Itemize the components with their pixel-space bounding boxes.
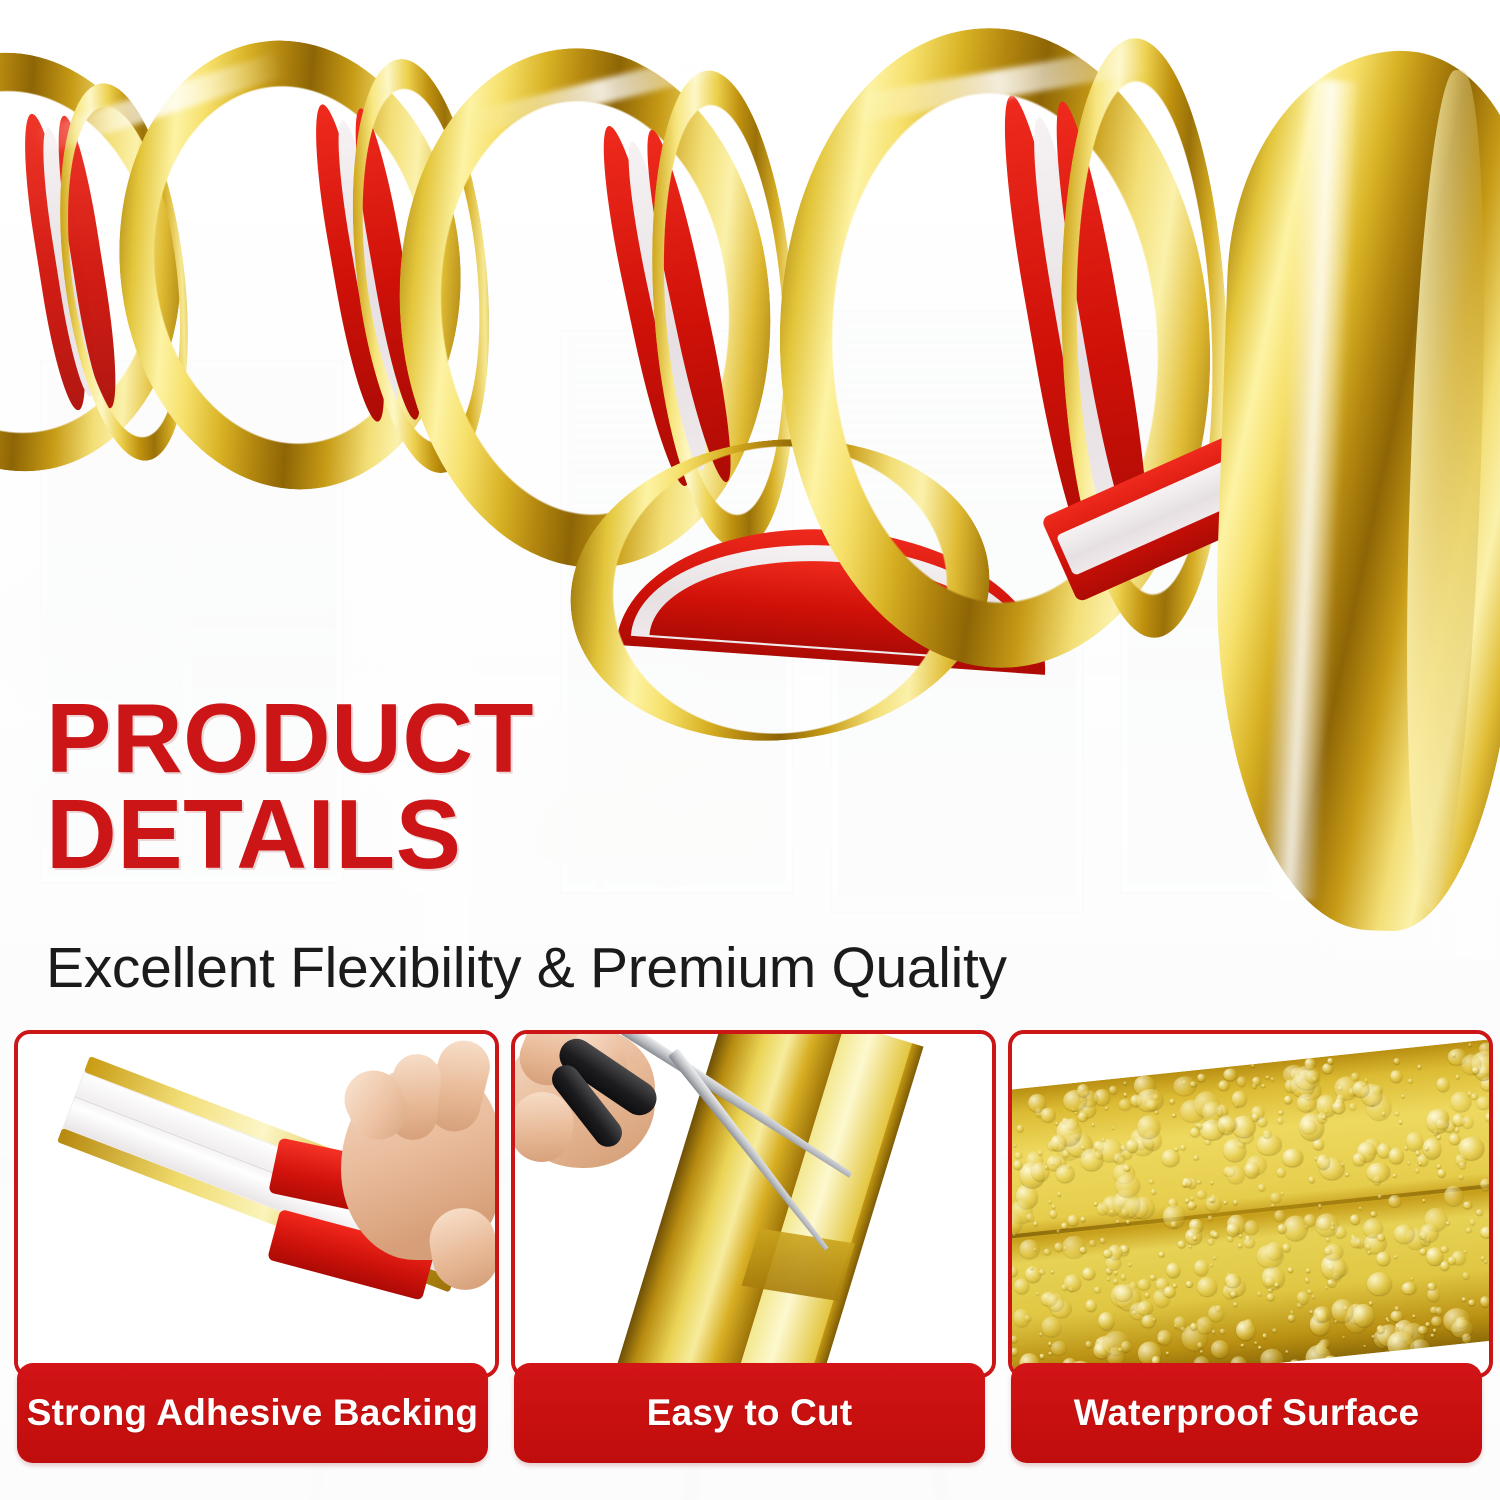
water-droplet <box>1210 1339 1229 1358</box>
water-droplet <box>1484 1112 1489 1123</box>
water-droplet <box>1272 1328 1277 1332</box>
water-droplet <box>1166 1351 1169 1354</box>
water-droplet <box>1255 1243 1284 1269</box>
water-droplet <box>1377 1194 1381 1198</box>
feature-caption-label: Waterproof Surface <box>1074 1392 1420 1434</box>
water-droplet <box>1377 1233 1386 1241</box>
water-droplet <box>1213 1232 1220 1239</box>
page-title-line-2: DETAILS <box>46 786 766 882</box>
water-droplet <box>1197 1277 1219 1297</box>
tape-tail <box>1160 40 1500 940</box>
water-droplet <box>1229 1291 1237 1298</box>
water-droplet <box>1255 1341 1258 1344</box>
water-droplet <box>1438 1169 1446 1178</box>
feature-caption-easy-to-cut: Easy to Cut <box>514 1363 985 1463</box>
water-droplet <box>1268 1288 1273 1292</box>
water-droplet <box>1252 1113 1259 1121</box>
water-droplet <box>1137 1278 1151 1290</box>
water-droplet <box>1376 1251 1391 1266</box>
water-droplet <box>1468 1044 1472 1047</box>
water-droplet <box>1085 1299 1097 1312</box>
water-droplet <box>1136 1088 1164 1113</box>
water-droplet <box>1288 1267 1293 1273</box>
water-droplet <box>1406 1131 1425 1151</box>
water-droplet <box>1227 1236 1234 1242</box>
water-droplet <box>1188 1244 1191 1247</box>
water-droplet <box>1067 1215 1079 1227</box>
water-droplet <box>1209 1198 1213 1202</box>
water-droplet <box>1346 1173 1350 1177</box>
water-droplet <box>1120 1273 1126 1279</box>
water-droplet <box>1126 1220 1130 1224</box>
water-droplet <box>1111 1127 1115 1130</box>
water-droplet <box>1108 1086 1117 1095</box>
water-droplet <box>1446 1221 1450 1225</box>
water-droplet <box>1197 1342 1202 1348</box>
water-droplet <box>1113 1278 1119 1284</box>
water-droplet <box>1194 1155 1199 1160</box>
page-title-line-1: PRODUCT <box>46 690 766 786</box>
water-droplet <box>1306 1269 1310 1273</box>
water-droplet <box>1043 1248 1051 1255</box>
water-droplet <box>1097 1311 1115 1331</box>
water-droplet <box>1144 1293 1150 1298</box>
water-droplet <box>1466 1227 1472 1232</box>
water-droplet <box>1103 1249 1112 1258</box>
water-droplet <box>1367 1251 1370 1254</box>
water-droplet <box>1040 1107 1056 1122</box>
water-droplet <box>1116 1220 1120 1224</box>
feature-caption-label: Easy to Cut <box>647 1392 853 1434</box>
water-droplet <box>1418 1064 1422 1068</box>
water-droplet <box>1365 1161 1391 1183</box>
water-droplet <box>1160 1149 1180 1168</box>
water-droplet <box>1274 1210 1286 1222</box>
water-droplet <box>1309 1176 1315 1182</box>
water-droplet <box>1451 1319 1475 1339</box>
water-droplet <box>1322 1062 1334 1074</box>
water-droplet <box>1341 1162 1345 1166</box>
water-droplet <box>1415 1168 1419 1172</box>
water-droplet <box>1107 1277 1110 1280</box>
water-droplet <box>1048 1342 1052 1346</box>
water-droplet <box>1150 1275 1156 1281</box>
water-droplet <box>1279 1110 1284 1114</box>
water-droplet <box>1484 1260 1488 1264</box>
water-droplet <box>1455 1074 1459 1079</box>
water-droplet <box>1390 1070 1402 1083</box>
water-droplet <box>1197 1073 1206 1082</box>
water-droplet <box>1149 1179 1154 1184</box>
water-droplet <box>1124 1082 1127 1085</box>
water-droplet <box>1013 1308 1031 1327</box>
water-droplet <box>1193 1259 1209 1276</box>
water-droplet <box>1150 1189 1156 1195</box>
water-droplet <box>1476 1208 1483 1215</box>
water-droplet <box>1056 1229 1060 1234</box>
feature-panel-waterproof[interactable] <box>1008 1030 1493 1378</box>
water-droplet <box>1235 1319 1256 1341</box>
water-droplet <box>1196 1189 1207 1198</box>
water-droplet <box>1443 1185 1465 1207</box>
water-droplet <box>1039 1353 1045 1359</box>
water-droplet <box>1074 1111 1077 1114</box>
water-droplet <box>1081 1267 1096 1280</box>
water-droplet <box>1237 1076 1247 1087</box>
water-droplet <box>1479 1178 1489 1191</box>
water-droplet <box>1185 1280 1192 1287</box>
water-droplet <box>1030 1267 1033 1270</box>
water-droplet <box>1244 1237 1256 1248</box>
water-droplet <box>1283 1243 1292 1252</box>
water-droplet <box>1394 1255 1398 1259</box>
water-droplet <box>1175 1147 1179 1150</box>
water-droplet <box>1433 1329 1437 1333</box>
water-droplet <box>1307 1289 1313 1294</box>
water-droplet <box>1041 1316 1063 1338</box>
water-droplet <box>1312 1295 1316 1299</box>
water-droplet <box>1469 1219 1474 1225</box>
water-droplet <box>1207 1238 1215 1245</box>
water-droplet <box>1284 1095 1293 1103</box>
water-droplet <box>1208 1216 1213 1221</box>
water-droplet <box>1233 1302 1238 1307</box>
water-droplet <box>1169 1098 1175 1104</box>
feature-caption-waterproof: Waterproof Surface <box>1011 1363 1482 1463</box>
water-droplet <box>1099 1237 1105 1243</box>
water-droplet <box>1468 1299 1475 1305</box>
water-droplet <box>1349 1103 1357 1110</box>
water-droplet <box>1437 1135 1441 1139</box>
water-droplet <box>1166 1261 1182 1278</box>
product-details-infographic: PRODUCT DETAILS Excellent Flexibility & … <box>0 0 1500 1500</box>
water-droplet <box>1036 1292 1040 1296</box>
water-droplet <box>1318 1204 1322 1208</box>
water-droplet <box>1262 1333 1267 1338</box>
water-droplet <box>1210 1180 1213 1184</box>
water-droplet <box>1187 1201 1196 1210</box>
water-droplet <box>1330 1226 1334 1230</box>
water-droplet <box>1480 1226 1489 1239</box>
water-droplet <box>1398 1120 1402 1124</box>
water-droplet <box>1288 1314 1296 1321</box>
water-droplet <box>1251 1064 1255 1067</box>
water-droplet <box>1271 1077 1274 1081</box>
water-droplet <box>1388 1147 1404 1164</box>
water-droplet <box>1080 1217 1086 1222</box>
water-droplet <box>1267 1293 1276 1301</box>
water-droplet <box>1366 1271 1393 1296</box>
water-drops-icon <box>1012 1034 1489 1374</box>
water-droplet <box>1105 1107 1108 1110</box>
water-droplet <box>1018 1238 1040 1259</box>
water-droplet <box>1191 1196 1195 1200</box>
water-droplet <box>1226 1164 1246 1184</box>
water-droplet <box>1394 1058 1400 1065</box>
water-droplet <box>1252 1076 1262 1085</box>
water-droplet <box>1014 1277 1030 1293</box>
water-droplet <box>1190 1322 1197 1330</box>
water-droplet <box>1080 1247 1087 1254</box>
feature-caption-adhesive: Strong Adhesive Backing <box>17 1363 488 1463</box>
water-droplet <box>1327 1058 1333 1064</box>
water-droplet <box>1085 1341 1092 1349</box>
water-droplet <box>1244 1220 1259 1235</box>
water-droplet <box>1092 1123 1095 1126</box>
water-droplet <box>1400 1281 1416 1295</box>
water-droplet <box>1363 1344 1366 1347</box>
water-droplet <box>1157 1329 1173 1345</box>
water-droplet <box>1386 1319 1389 1323</box>
water-droplet <box>1459 1175 1464 1179</box>
water-droplet <box>1480 1296 1489 1307</box>
water-droplet <box>1258 1345 1262 1349</box>
water-droplet <box>1058 1192 1061 1195</box>
water-droplet <box>1238 1244 1242 1248</box>
water-droplet <box>1197 1180 1201 1184</box>
water-droplet <box>1129 1263 1133 1266</box>
water-droplet <box>1388 1194 1402 1207</box>
water-droplet <box>1012 1266 1018 1277</box>
water-droplet <box>1180 1145 1186 1150</box>
water-droplet <box>1014 1152 1022 1159</box>
water-droplet <box>1239 1234 1242 1237</box>
water-droplet <box>1038 1151 1042 1155</box>
water-droplet <box>1226 1222 1240 1237</box>
water-droplet <box>1243 1161 1260 1179</box>
water-droplet <box>1258 1184 1266 1191</box>
water-droplet <box>1435 1076 1450 1092</box>
water-droplet <box>1412 1314 1415 1317</box>
water-droplet <box>1476 1095 1489 1109</box>
water-droplet <box>1089 1240 1097 1247</box>
water-droplet <box>1463 1201 1472 1209</box>
water-droplet <box>1258 1291 1262 1295</box>
water-droplet <box>1120 1144 1127 1150</box>
feature-panel-easy-to-cut[interactable] <box>511 1030 996 1378</box>
water-droplet <box>1441 1246 1449 1253</box>
water-droplet <box>1350 1214 1361 1225</box>
water-droplet <box>1452 1053 1455 1057</box>
water-droplet <box>1051 1205 1054 1209</box>
feature-caption-label: Strong Adhesive Backing <box>27 1392 478 1434</box>
water-droplet <box>1080 1145 1085 1150</box>
water-droplet <box>1026 1213 1034 1222</box>
water-droplet <box>1462 1298 1466 1302</box>
water-droplet <box>1369 1301 1373 1305</box>
water-droplet <box>1233 1200 1237 1204</box>
page-title: PRODUCT DETAILS <box>46 690 766 882</box>
water-droplet <box>1430 1333 1434 1337</box>
water-droplet <box>1182 1182 1187 1187</box>
water-droplet <box>1051 1270 1054 1273</box>
water-droplet <box>1395 1111 1399 1115</box>
water-droplet <box>1371 1211 1377 1217</box>
water-droplet <box>1322 1114 1327 1118</box>
water-droplet <box>1013 1144 1016 1147</box>
water-droplet <box>1359 1206 1362 1209</box>
water-droplet <box>1352 1152 1366 1166</box>
water-droplet <box>1431 1316 1442 1326</box>
water-droplet <box>1435 1307 1443 1315</box>
water-droplet <box>1012 1335 1018 1343</box>
water-droplet <box>1393 1174 1397 1177</box>
scissors-icon <box>515 1034 992 1374</box>
water-droplet <box>1449 1090 1472 1112</box>
water-droplet <box>1213 1256 1216 1259</box>
water-droplet <box>1426 1322 1431 1326</box>
water-droplet <box>1181 1326 1186 1331</box>
water-droplet <box>1488 1143 1489 1166</box>
water-droplet <box>1158 1251 1165 1257</box>
water-droplet <box>1012 1348 1018 1356</box>
water-droplet <box>1332 1100 1346 1113</box>
water-droplet <box>1050 1340 1067 1355</box>
water-droplet <box>1039 1269 1045 1274</box>
water-droplet <box>1266 1075 1270 1079</box>
water-droplet <box>1260 1265 1286 1291</box>
water-droplet <box>1197 1123 1203 1129</box>
water-droplet <box>1411 1277 1414 1280</box>
water-droplet <box>1061 1222 1069 1230</box>
water-droplet <box>1277 1118 1283 1124</box>
water-droplet <box>1277 1167 1286 1176</box>
water-droplet <box>1114 1271 1117 1275</box>
water-droplet <box>1461 1115 1474 1128</box>
water-droplet <box>1218 1080 1230 1091</box>
water-droplet <box>1408 1078 1413 1082</box>
water-droplet <box>1281 1147 1304 1168</box>
feature-panel-adhesive[interactable] <box>14 1030 499 1378</box>
water-droplet <box>1048 1351 1052 1355</box>
water-droplet <box>1261 1084 1265 1088</box>
water-droplet <box>1220 1329 1225 1334</box>
water-droplet <box>1079 1148 1104 1172</box>
water-droplet <box>1055 1164 1076 1184</box>
water-droplet <box>1372 1335 1375 1338</box>
water-droplet <box>1286 1350 1289 1353</box>
water-droplet <box>1048 1200 1051 1203</box>
water-droplet <box>1016 1124 1024 1132</box>
water-droplet <box>1408 1161 1411 1164</box>
page-subtitle: Excellent Flexibility & Premium Quality <box>46 940 1007 997</box>
water-droplet <box>1136 1300 1154 1315</box>
water-droplet <box>1425 1146 1429 1150</box>
water-droplet <box>1049 1210 1057 1218</box>
water-droplet <box>1155 1110 1159 1113</box>
water-droplet <box>1231 1090 1247 1108</box>
water-droplet <box>1325 1286 1328 1289</box>
water-droplet <box>1422 1199 1426 1202</box>
water-droplet <box>1094 1286 1102 1294</box>
water-droplet <box>1123 1093 1127 1097</box>
water-droplet <box>1296 1093 1317 1113</box>
water-droplet <box>1223 1200 1227 1204</box>
water-droplet <box>1102 1138 1106 1142</box>
water-droplet <box>1342 1336 1345 1339</box>
water-droplet <box>1178 1240 1186 1249</box>
water-droplet <box>1436 1164 1441 1169</box>
water-droplet <box>1012 1233 1015 1236</box>
water-droplet <box>1459 1162 1466 1170</box>
water-droplet <box>1200 1350 1203 1353</box>
hand-peel-icon <box>18 1034 495 1374</box>
water-droplet <box>1402 1094 1405 1097</box>
water-droplet <box>1365 1243 1371 1249</box>
water-droplet <box>1045 1165 1049 1169</box>
water-droplet <box>1172 1113 1176 1117</box>
water-droplet <box>1102 1330 1131 1356</box>
water-droplet <box>1210 1264 1213 1267</box>
water-droplet <box>1326 1237 1330 1241</box>
water-droplet <box>1141 1314 1156 1328</box>
water-droplet <box>1110 1210 1114 1214</box>
water-droplet <box>1034 1222 1039 1226</box>
water-droplet <box>1271 1204 1274 1207</box>
water-droplet <box>1305 1278 1309 1282</box>
water-droplet <box>1241 1344 1245 1347</box>
water-droplet <box>1040 1333 1043 1336</box>
water-droplet <box>1462 1272 1469 1279</box>
water-droplet <box>1280 1192 1284 1196</box>
